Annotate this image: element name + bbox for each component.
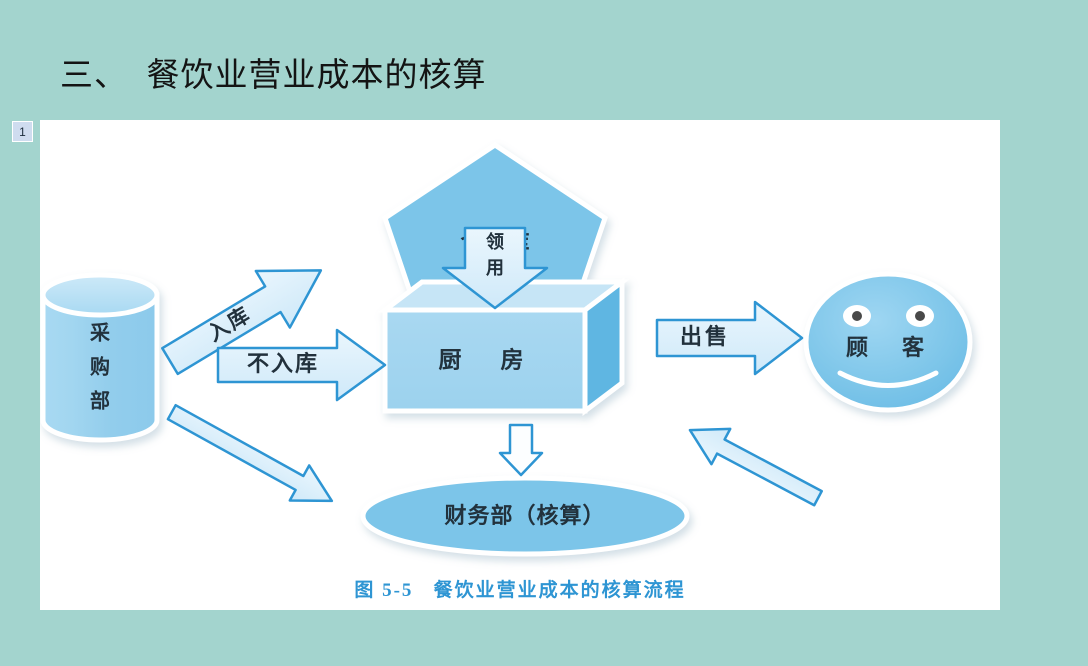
arrow-shape	[500, 425, 542, 475]
figure-caption: 图 5-5 餐饮业营业成本的核算流程	[40, 575, 1000, 602]
node-label-purchasing-3: 部	[90, 389, 110, 413]
node-label-customer: 顾 客	[846, 335, 930, 360]
node-customer[interactable]: 顾 客	[806, 274, 970, 410]
arrow-sell[interactable]: 出售	[657, 302, 802, 374]
diagram-panel: 食品库 采 购 部 厨 房 顾 客	[40, 120, 1000, 610]
node-purchasing[interactable]: 采 购 部	[43, 275, 157, 440]
page-title: 三、 餐饮业营业成本的核算	[60, 48, 487, 96]
left-pupil-icon	[852, 311, 862, 321]
arrow-shape	[162, 395, 341, 519]
arrow-shape	[681, 412, 828, 515]
right-pupil-icon	[915, 311, 925, 321]
node-label-purchasing-2: 购	[90, 355, 110, 379]
arrow-kitchen-to-finance[interactable]	[500, 425, 542, 475]
arrow-purchasing-to-finance[interactable]	[162, 395, 341, 519]
flow-diagram: 食品库 采 购 部 厨 房 顾 客	[40, 120, 1000, 610]
arrow-label-no-store: 不入库	[247, 351, 319, 376]
node-label-purchasing-1: 采	[90, 322, 110, 345]
arrow-no-store[interactable]: 不入库	[218, 330, 385, 400]
arrow-customer-to-finance[interactable]	[681, 412, 828, 515]
arrow-label-sell: 出售	[680, 324, 730, 349]
arrow-label-requisition-2: 用	[486, 258, 504, 278]
node-label-finance: 财务部（核算）	[444, 503, 605, 528]
node-label-kitchen: 厨 房	[439, 346, 532, 372]
cylinder-top	[43, 275, 157, 315]
slide-number-badge[interactable]: 1	[12, 121, 33, 142]
arrow-label-requisition-1: 领	[486, 231, 504, 252]
node-finance[interactable]: 财务部（核算）	[363, 478, 687, 554]
